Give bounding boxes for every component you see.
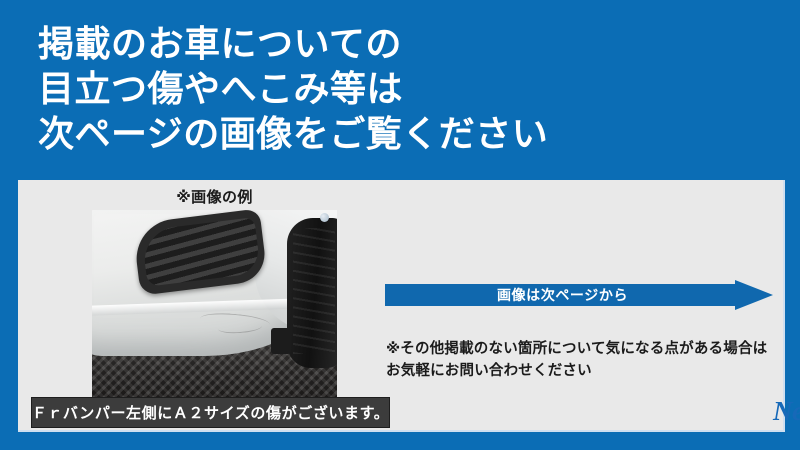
photo-lens-flare (320, 213, 329, 222)
damage-photo (92, 210, 337, 398)
photo-example-label: ※画像の例 (92, 188, 337, 208)
headline-line-1: 掲載のお車についての (38, 21, 758, 66)
photo-front-tire (287, 218, 337, 368)
contact-note-line-2: お気軽にお問い合わせください (386, 360, 776, 382)
photo-example-block: ※画像の例 (92, 188, 337, 398)
content-panel: ※画像の例 Ｆｒバンパー左側にＡ２サイズの傷がございます。 (18, 180, 785, 432)
page-title: 掲載のお車についての 目立つ傷やへこみ等は 次ページの画像をご覧ください (38, 21, 758, 156)
netz-wordmark-text: Netz (773, 396, 800, 426)
right-column: 画像は次ページから ※その他掲載のない箇所について気になる点がある場合は お気軽… (385, 180, 777, 430)
headline-line-2: 目立つ傷やへこみ等は (38, 66, 758, 111)
netz-wordmark: Netz (773, 398, 800, 425)
contact-note: ※その他掲載のない箇所について気になる点がある場合は お気軽にお問い合わせくださ… (386, 338, 776, 382)
slide-canvas: 掲載のお車についての 目立つ傷やへこみ等は 次ページの画像をご覧ください ※画像… (0, 0, 800, 450)
headline-line-3: 次ページの画像をご覧ください (38, 111, 758, 156)
netz-toyota-logo: Netz ネッツトヨタ栃木 (773, 394, 800, 428)
contact-note-line-1: ※その他掲載のない箇所について気になる点がある場合は (386, 338, 776, 360)
photo-mudflap (271, 328, 291, 354)
next-page-arrow-label: 画像は次ページから (385, 280, 740, 310)
next-page-arrow-banner: 画像は次ページから (385, 280, 773, 310)
damage-caption-text: Ｆｒバンパー左側にＡ２サイズの傷がございます。 (32, 402, 390, 423)
damage-caption-bar: Ｆｒバンパー左側にＡ２サイズの傷がございます。 (31, 397, 390, 428)
